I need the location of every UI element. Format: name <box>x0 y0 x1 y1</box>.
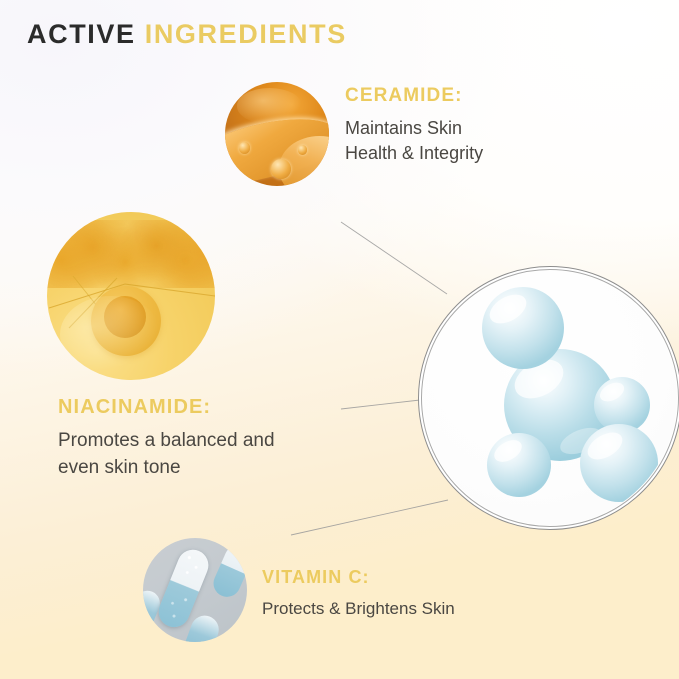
ingredient-text-niacinamide: NIACINAMIDE: Promotes a balanced and eve… <box>58 396 275 482</box>
ingredient-desc-vitamin-c-line1: Protects & Brightens Skin <box>262 597 455 621</box>
ingredient-label-niacinamide: NIACINAMIDE: <box>58 396 275 418</box>
title-word-ingredients: INGREDIENTS <box>145 19 347 49</box>
niacinamide-gloss <box>60 296 161 373</box>
ingredient-desc-ceramide-line2: Health & Integrity <box>345 141 483 167</box>
infographic-canvas: ACTIVE INGREDIENTS <box>0 0 679 679</box>
title-word-active: ACTIVE <box>27 19 136 49</box>
ingredient-desc-niacinamide: Promotes a balanced and even skin tone <box>58 428 275 482</box>
ingredient-desc-niacinamide-line1: Promotes a balanced and <box>58 428 275 455</box>
ingredient-desc-ceramide: Maintains Skin Health & Integrity <box>345 116 483 167</box>
molecule-illustration-icon <box>423 271 677 525</box>
ingredient-desc-niacinamide-line2: even skin tone <box>58 455 275 482</box>
ingredient-label-ceramide: CERAMIDE: <box>345 86 483 107</box>
ingredient-swatch-vitamin-c <box>143 538 247 642</box>
ceramide-bead-1 <box>271 159 291 179</box>
molecule-circle <box>418 266 679 530</box>
ingredient-desc-vitamin-c: Protects & Brightens Skin <box>262 597 455 621</box>
ingredient-label-vitamin-c: VITAMIN C: <box>262 568 455 588</box>
ingredient-text-ceramide: CERAMIDE: Maintains Skin Health & Integr… <box>345 86 483 167</box>
ceramide-bead-3 <box>298 145 307 154</box>
ingredient-text-vitamin-c: VITAMIN C: Protects & Brightens Skin <box>262 568 455 621</box>
page-title: ACTIVE INGREDIENTS <box>27 21 347 48</box>
ingredient-swatch-niacinamide <box>47 212 215 380</box>
capsule-top-right <box>209 541 247 601</box>
ingredient-desc-ceramide-line1: Maintains Skin <box>345 116 483 142</box>
ceramide-gloss <box>237 88 301 123</box>
ingredient-swatch-ceramide <box>225 82 329 186</box>
ceramide-bead-2 <box>239 142 250 153</box>
molecule-face <box>423 271 677 525</box>
